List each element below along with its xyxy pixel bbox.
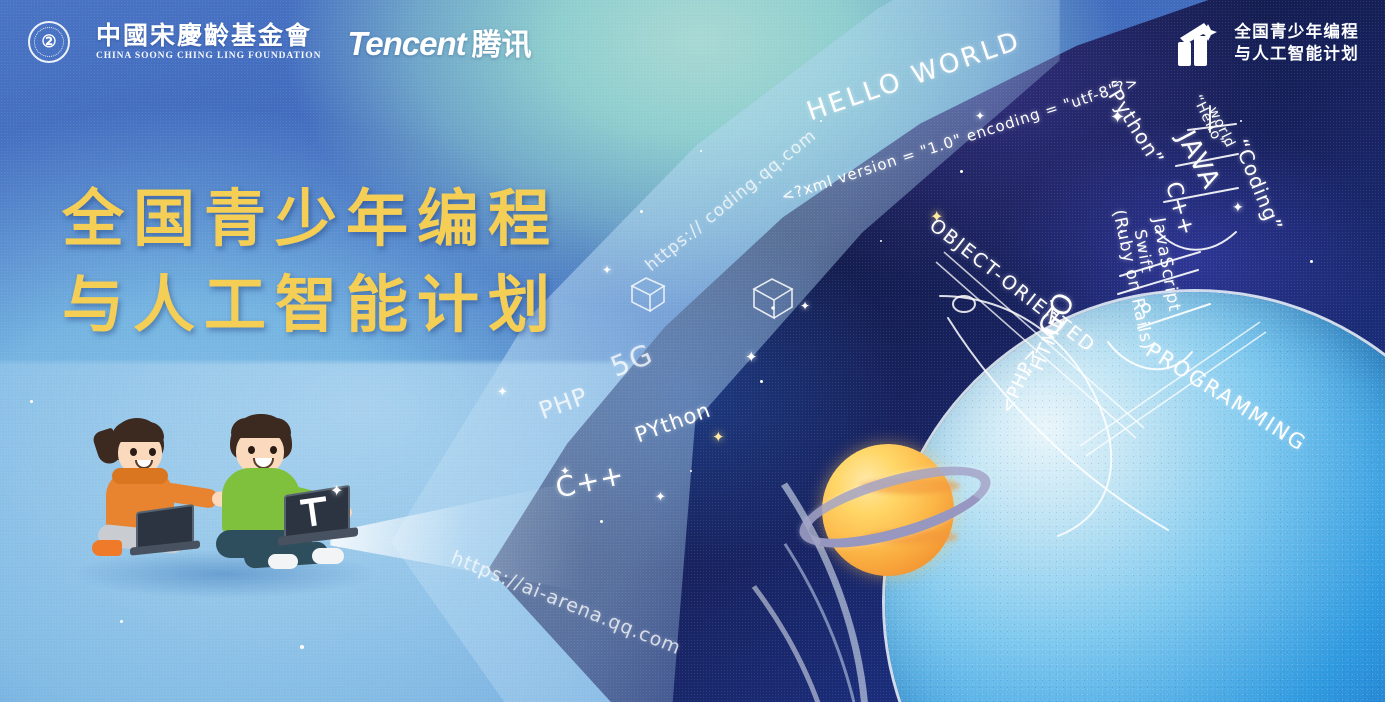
- star-dot: [760, 380, 763, 383]
- sparkle-icon: ✦: [602, 264, 612, 276]
- girl-fringe: [112, 422, 164, 442]
- sparkle-icon: ✦: [497, 385, 508, 398]
- screen-sparkle-icon: ✦: [330, 484, 343, 500]
- coding-program-logo-mark-icon: [1170, 18, 1222, 68]
- partner-logos: ② 中國宋慶齡基金會 CHINA SOONG CHING LING FOUNDA…: [28, 20, 532, 64]
- kids-illustration: ✦: [78, 412, 378, 602]
- sparkle-icon: ✦: [975, 110, 985, 122]
- star-dot: [300, 645, 304, 649]
- poster-canvas: ✦ ✦ ✦ ✦ ✦ ✦ ✦ ✦ ✦ ✦ ✦ ✦ ✦: [0, 0, 1385, 702]
- star-dot: [880, 240, 882, 242]
- program-brand-lockup: 全国青少年编程 与人工智能计划: [1170, 18, 1359, 68]
- tencent-wordmark-cn: 腾讯: [472, 20, 532, 64]
- sparkle-icon: ✦: [655, 490, 666, 503]
- girl-eye-right: [149, 448, 156, 456]
- diagonal-rule-lines-icon: [930, 250, 1270, 480]
- star-dot: [30, 400, 33, 403]
- emblem-glyph: ②: [41, 32, 56, 52]
- title-line-1: 全国青少年编程: [62, 176, 559, 262]
- sparkle-icon: ✦: [712, 430, 725, 445]
- tencent-logo: Tencent 腾讯: [347, 20, 531, 64]
- star-dot: [960, 170, 963, 173]
- girl-shoe: [92, 540, 122, 556]
- foundation-name-en: CHINA SOONG CHING LING FOUNDATION: [96, 51, 321, 61]
- girl-eye-left: [130, 448, 137, 456]
- boy-shoe-1: [268, 554, 298, 569]
- brand-line-2: 与人工智能计划: [1234, 45, 1359, 64]
- brand-line-1: 全国青少年编程: [1234, 23, 1359, 42]
- sparkle-icon: ✦: [800, 300, 810, 312]
- boy-shoe-2: [312, 548, 344, 564]
- poster-title: 全国青少年编程 与人工智能计划: [62, 176, 559, 347]
- boy-fringe: [231, 418, 291, 438]
- foundation-logo: 中國宋慶齡基金會 CHINA SOONG CHING LING FOUNDATI…: [96, 23, 321, 61]
- wireframe-cube-icon: [748, 272, 798, 324]
- girl-hood: [112, 468, 168, 484]
- sparkle-icon: ✦: [745, 350, 758, 365]
- boy-eye-left: [248, 446, 255, 454]
- boy-eye-right: [270, 446, 277, 454]
- program-brand-text: 全国青少年编程 与人工智能计划: [1234, 23, 1359, 64]
- wireframe-cube-icon: [624, 268, 676, 320]
- foundation-name-cn: 中國宋慶齡基金會: [96, 23, 321, 49]
- star-dot: [690, 470, 692, 472]
- soong-ching-ling-emblem-icon: ②: [28, 21, 70, 63]
- star-dot: [120, 620, 123, 623]
- star-dot: [640, 210, 643, 213]
- title-line-2: 与人工智能计划: [62, 262, 559, 348]
- tencent-wordmark: Tencent: [347, 25, 465, 63]
- star-dot: [700, 150, 702, 152]
